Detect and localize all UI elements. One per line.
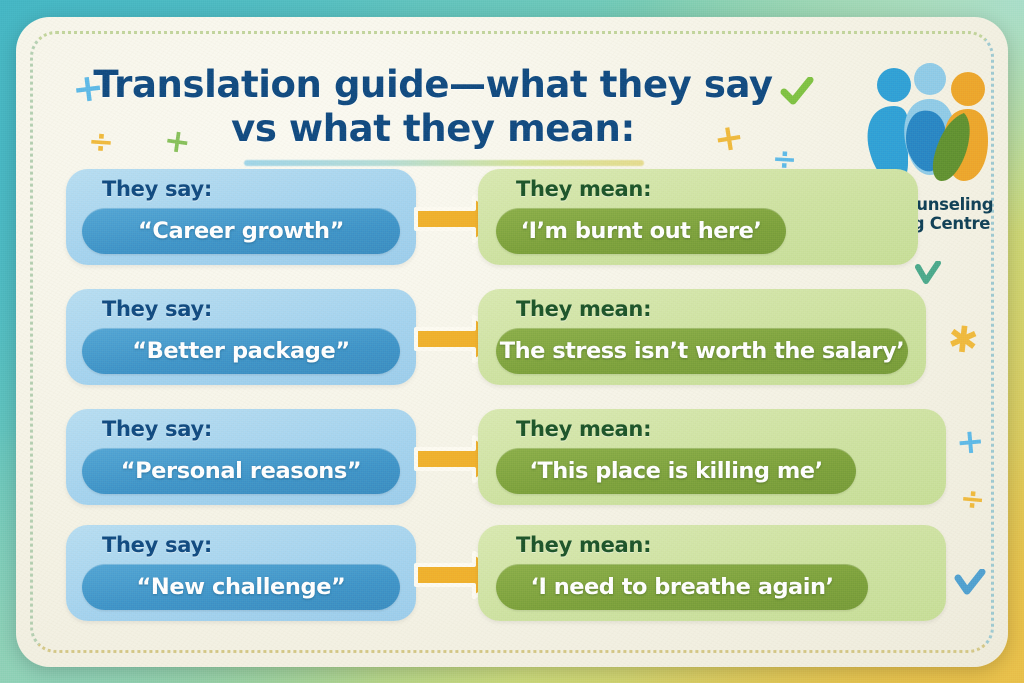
they-mean-card: They mean:‘I need to breathe again’ <box>478 525 946 621</box>
they-mean-pill: ‘I need to breathe again’ <box>496 564 868 610</box>
they-mean-pill: The stress isn’t worth the salary’ <box>496 328 908 374</box>
check-icon <box>780 77 814 110</box>
they-mean-card: They mean:‘This place is killing me’ <box>478 409 946 505</box>
check-icon <box>954 569 986 600</box>
they-say-card: They say:“New challenge” <box>66 525 416 621</box>
they-mean-quote: ‘I’m burnt out here’ <box>521 218 762 244</box>
they-say-card: They say:“Personal reasons” <box>66 409 416 505</box>
translation-row: They say:“Personal reasons”They mean:‘Th… <box>16 409 1008 507</box>
divide-icon: ÷ <box>87 126 115 159</box>
they-say-card: They say:“Career growth” <box>66 169 416 265</box>
they-say-card: They say:“Better package” <box>66 289 416 385</box>
they-mean-label: They mean: <box>516 297 651 321</box>
they-mean-label: They mean: <box>516 177 651 201</box>
they-say-quote: “New challenge” <box>137 574 346 600</box>
they-say-quote: “Better package” <box>132 338 349 364</box>
plus-icon: + <box>162 123 193 158</box>
they-mean-label: They mean: <box>516 533 651 557</box>
they-say-quote: “Personal reasons” <box>121 458 362 484</box>
they-mean-pill: ‘I’m burnt out here’ <box>496 208 786 254</box>
translation-row: They say:“New challenge”They mean:‘I nee… <box>16 525 1008 623</box>
check-icon <box>914 261 942 290</box>
they-say-label: They say: <box>102 417 212 441</box>
they-say-label: They say: <box>102 177 212 201</box>
they-mean-quote: The stress isn’t worth the salary’ <box>500 338 904 364</box>
translation-row: They say:“Career growth”They mean:‘I’m b… <box>16 169 1008 267</box>
plus-icon: + <box>711 119 746 159</box>
they-say-label: They say: <box>102 533 212 557</box>
they-mean-card: They mean:The stress isn’t worth the sal… <box>478 289 926 385</box>
they-mean-label: They mean: <box>516 417 651 441</box>
they-say-label: They say: <box>102 297 212 321</box>
they-mean-quote: ‘This place is killing me’ <box>529 458 822 484</box>
poster-card: Translation guide—what they say vs what … <box>16 17 1008 667</box>
plus-icon: + <box>70 67 106 109</box>
they-say-pill: “Personal reasons” <box>82 448 400 494</box>
they-say-quote: “Career growth” <box>138 218 344 244</box>
they-say-pill: “New challenge” <box>82 564 400 610</box>
divide-icon: ÷ <box>959 484 987 516</box>
star-icon: ✱ <box>946 322 980 361</box>
divide-icon: ÷ <box>771 144 798 175</box>
translation-row-list: They say:“Career growth”They mean:‘I’m b… <box>16 17 1008 667</box>
plus-icon: + <box>955 424 986 460</box>
translation-row: They say:“Better package”They mean:The s… <box>16 289 1008 387</box>
they-mean-quote: ‘I need to breathe again’ <box>530 574 833 600</box>
they-say-pill: “Better package” <box>82 328 400 374</box>
they-mean-pill: ‘This place is killing me’ <box>496 448 856 494</box>
they-mean-card: They mean:‘I’m burnt out here’ <box>478 169 918 265</box>
they-say-pill: “Career growth” <box>82 208 400 254</box>
